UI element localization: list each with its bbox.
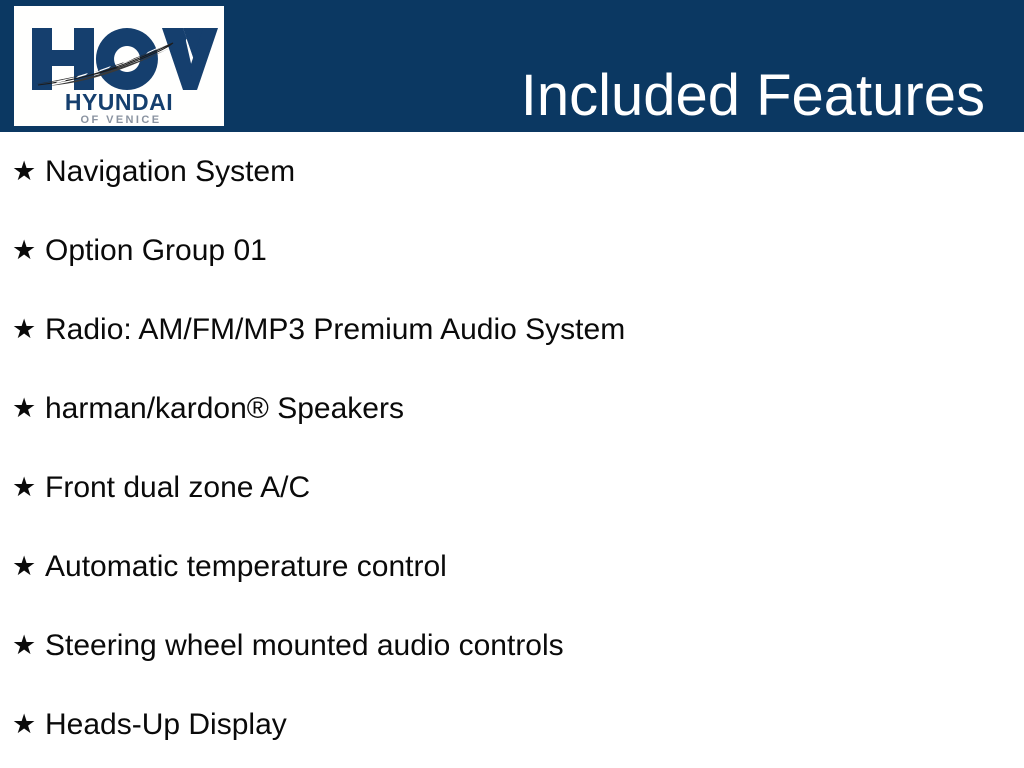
feature-label: Heads-Up Display <box>45 708 287 741</box>
star-bullet-icon: ★ <box>12 316 45 343</box>
star-bullet-icon: ★ <box>12 474 45 501</box>
star-bullet-icon: ★ <box>12 237 45 264</box>
logo-location-line: OF VENICE <box>81 114 162 126</box>
list-item: ★ Heads-Up Display <box>0 685 1024 764</box>
feature-label: harman/kardon® Speakers <box>45 392 404 425</box>
page-title: Included Features <box>521 66 985 127</box>
feature-label: Front dual zone A/C <box>45 471 310 504</box>
feature-label: Steering wheel mounted audio controls <box>45 629 564 662</box>
star-bullet-icon: ★ <box>12 553 45 580</box>
list-item: ★ Radio: AM/FM/MP3 Premium Audio System <box>0 290 1024 369</box>
list-item: ★ Option Group 01 <box>0 211 1024 290</box>
feature-label: Radio: AM/FM/MP3 Premium Audio System <box>45 313 625 346</box>
list-item: ★ Navigation System <box>0 132 1024 211</box>
feature-label: Automatic temperature control <box>45 550 447 583</box>
star-bullet-icon: ★ <box>12 632 45 659</box>
list-item: ★ Steering wheel mounted audio controls <box>0 606 1024 685</box>
included-features-list: ★ Navigation System ★ Option Group 01 ★ … <box>0 132 1024 764</box>
logo-brand-name: HYUNDAI <box>65 89 173 115</box>
feature-label: Navigation System <box>45 155 295 188</box>
list-item: ★ Automatic temperature control <box>0 527 1024 606</box>
list-item: ★ Front dual zone A/C <box>0 448 1024 527</box>
feature-label: Option Group 01 <box>45 234 267 267</box>
slide-root: HYUNDAI OF VENICE Included Features ★ Na… <box>0 0 1024 768</box>
star-bullet-icon: ★ <box>12 395 45 422</box>
dealer-logo: HYUNDAI OF VENICE <box>14 6 224 126</box>
hov-hyundai-of-venice-logo-icon: HYUNDAI OF VENICE <box>14 6 224 126</box>
list-item: ★ harman/kardon® Speakers <box>0 369 1024 448</box>
star-bullet-icon: ★ <box>12 711 45 738</box>
star-bullet-icon: ★ <box>12 158 45 185</box>
